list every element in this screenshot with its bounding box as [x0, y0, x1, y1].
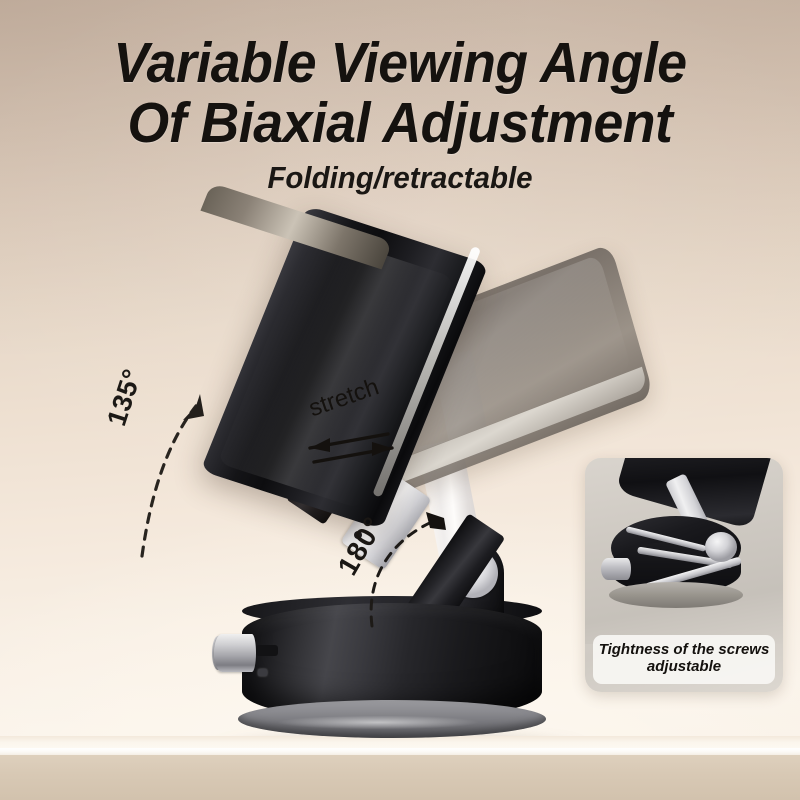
inset-base-rim: [609, 582, 743, 608]
base-screw: [258, 669, 267, 676]
inset-caption: Tightness of the screws adjustable: [593, 635, 775, 684]
inset-caption-line-1: Tightness of the screws: [599, 641, 770, 658]
base-slot: [256, 645, 278, 656]
base-adjustment-knob: [214, 634, 256, 672]
inset-detail-panel: Tightness of the screws adjustable: [585, 458, 783, 692]
inset-caption-line-2: adjustable: [647, 658, 721, 675]
inset-hinge-joint: [705, 532, 737, 562]
inset-base-knob: [601, 558, 631, 580]
base-rim-gloss: [252, 716, 532, 732]
inset-photo: [585, 458, 783, 644]
product-marketing-image: Variable Viewing Angle Of Biaxial Adjust…: [0, 0, 800, 800]
